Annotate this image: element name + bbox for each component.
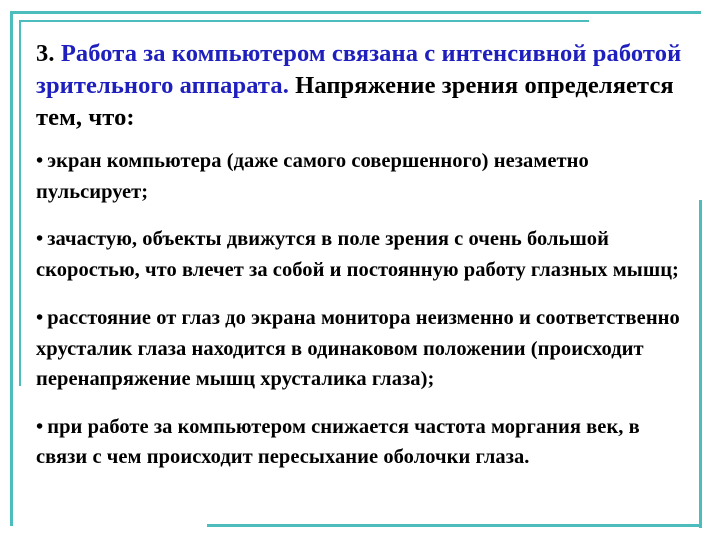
slide-heading: 3. Работа за компьютером связана с интен… xyxy=(36,38,688,134)
frame-rule-left-inner xyxy=(19,20,21,386)
slide-content: 3. Работа за компьютером связана с интен… xyxy=(36,38,688,473)
bullet-marker-icon: • xyxy=(36,150,43,172)
frame-rule-top-outer xyxy=(10,11,701,14)
frame-rule-bottom xyxy=(207,524,702,527)
bullet-item: •при работе за компьютером снижается час… xyxy=(36,412,688,473)
bullet-text: расстояние от глаз до экрана монитора не… xyxy=(36,307,680,390)
bullet-text: экран компьютера (даже самого совершенно… xyxy=(36,150,589,203)
bullet-marker-icon: • xyxy=(36,416,43,438)
bullet-item: •расстояние от глаз до экрана монитора н… xyxy=(36,303,688,395)
bullet-marker-icon: • xyxy=(36,307,43,329)
frame-rule-right xyxy=(699,200,702,528)
bullet-item: •экран компьютера (даже самого совершенн… xyxy=(36,146,688,207)
frame-rule-top-inner xyxy=(19,20,589,22)
slide-canvas: 3. Работа за компьютером связана с интен… xyxy=(0,0,720,540)
bullet-text: при работе за компьютером снижается част… xyxy=(36,416,640,469)
frame-rule-left-outer xyxy=(10,11,13,526)
bullet-marker-icon: • xyxy=(36,228,43,250)
heading-number: 3. xyxy=(36,40,55,67)
bullet-text: зачастую, объекты движутся в поле зрения… xyxy=(36,228,679,281)
bullet-item: •зачастую, объекты движутся в поле зрени… xyxy=(36,224,688,285)
